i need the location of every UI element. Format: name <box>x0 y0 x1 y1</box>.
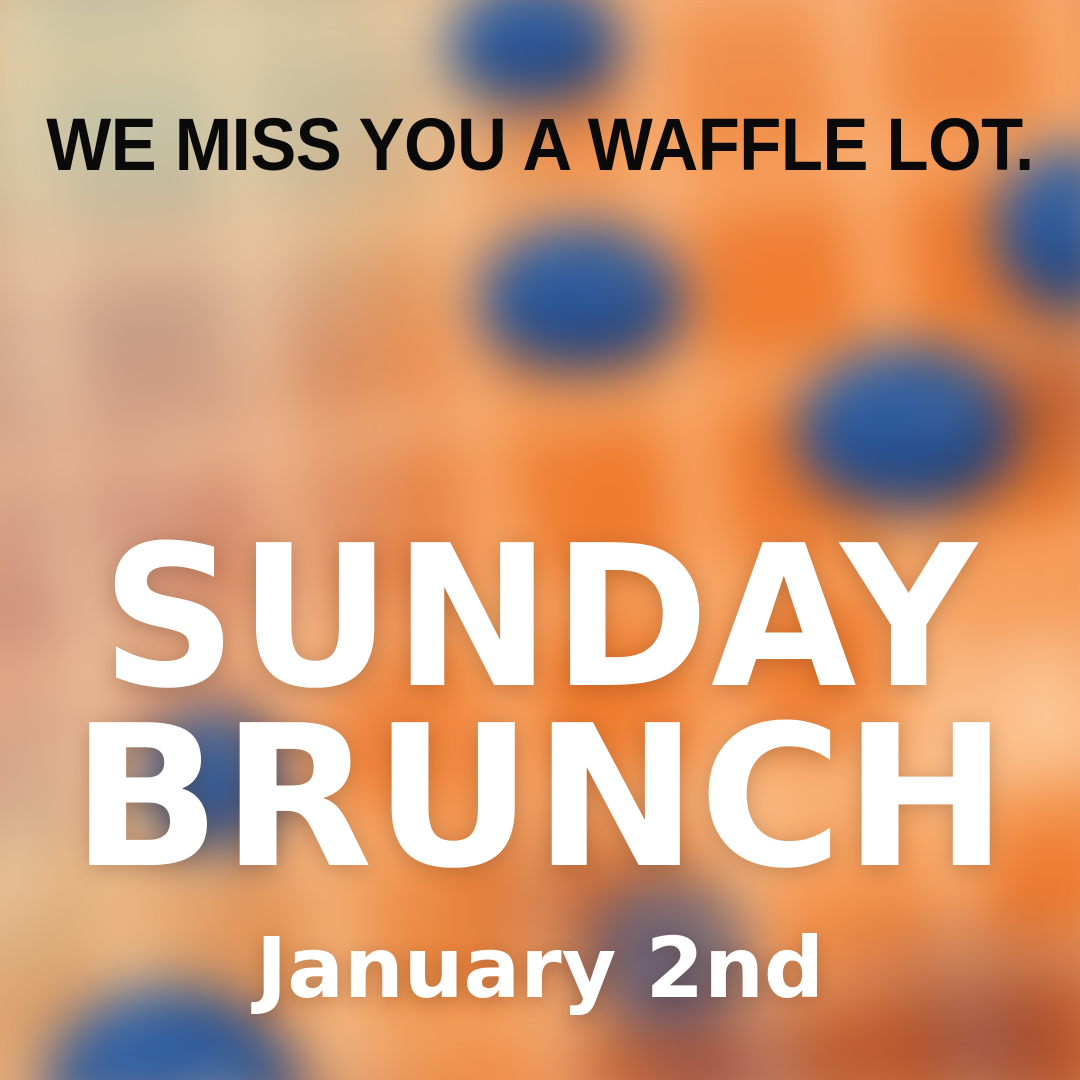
title-line-brunch: BRUNCH <box>0 704 1080 892</box>
poster-canvas: WE MISS YOU A WAFFLE LOT. SUNDAY BRUNCH … <box>0 0 1080 1080</box>
event-date-text: January 2nd <box>0 926 1080 1010</box>
headline-text: WE MISS YOU A WAFFLE LOT. <box>38 108 1042 182</box>
title-block: SUNDAY BRUNCH <box>0 524 1080 892</box>
poster-content: WE MISS YOU A WAFFLE LOT. SUNDAY BRUNCH … <box>0 0 1080 1080</box>
